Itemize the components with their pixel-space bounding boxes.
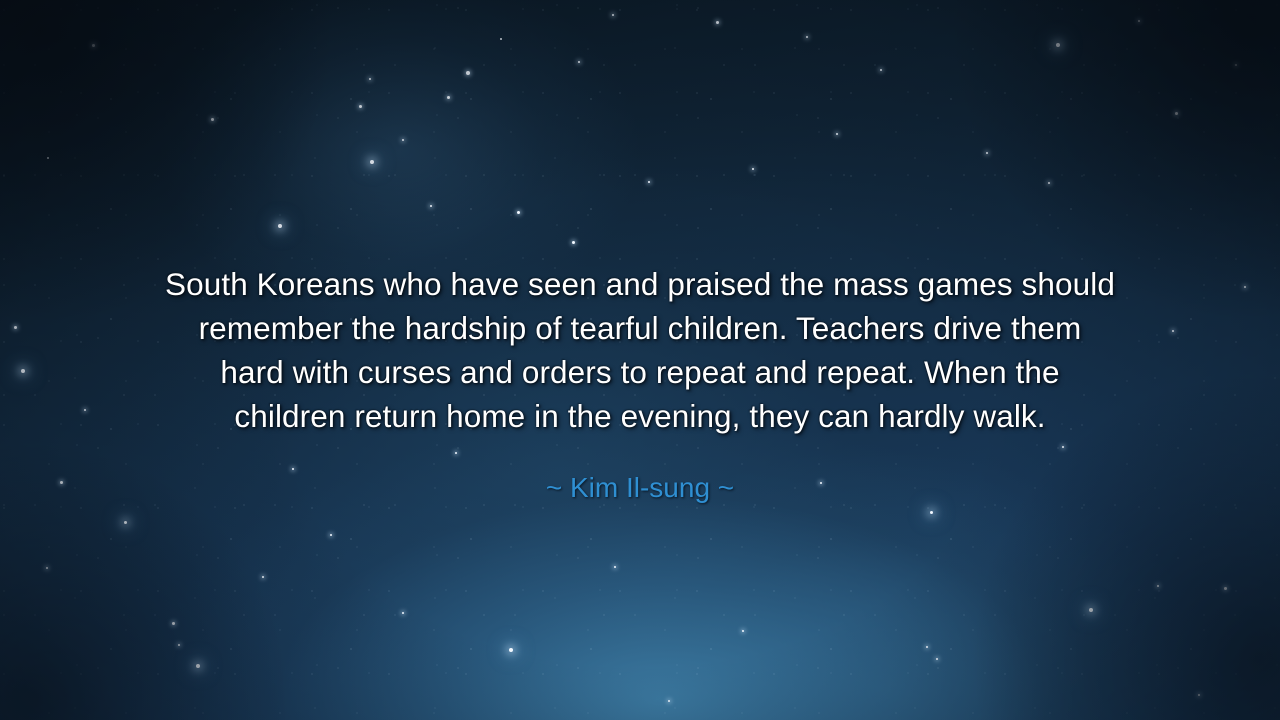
quote-line-2: remember the hardship of tearful childre…	[0, 306, 1280, 350]
quote-line-3: hard with curses and orders to repeat an…	[0, 350, 1280, 394]
quote-card: South Koreans who have seen and praised …	[0, 0, 1280, 720]
quote-text-block: South Koreans who have seen and praised …	[0, 262, 1280, 438]
quote-attribution: ~ Kim Il-sung ~	[0, 470, 1280, 506]
quote-line-1: South Koreans who have seen and praised …	[0, 262, 1280, 306]
quote-line-4: children return home in the evening, the…	[0, 394, 1280, 438]
